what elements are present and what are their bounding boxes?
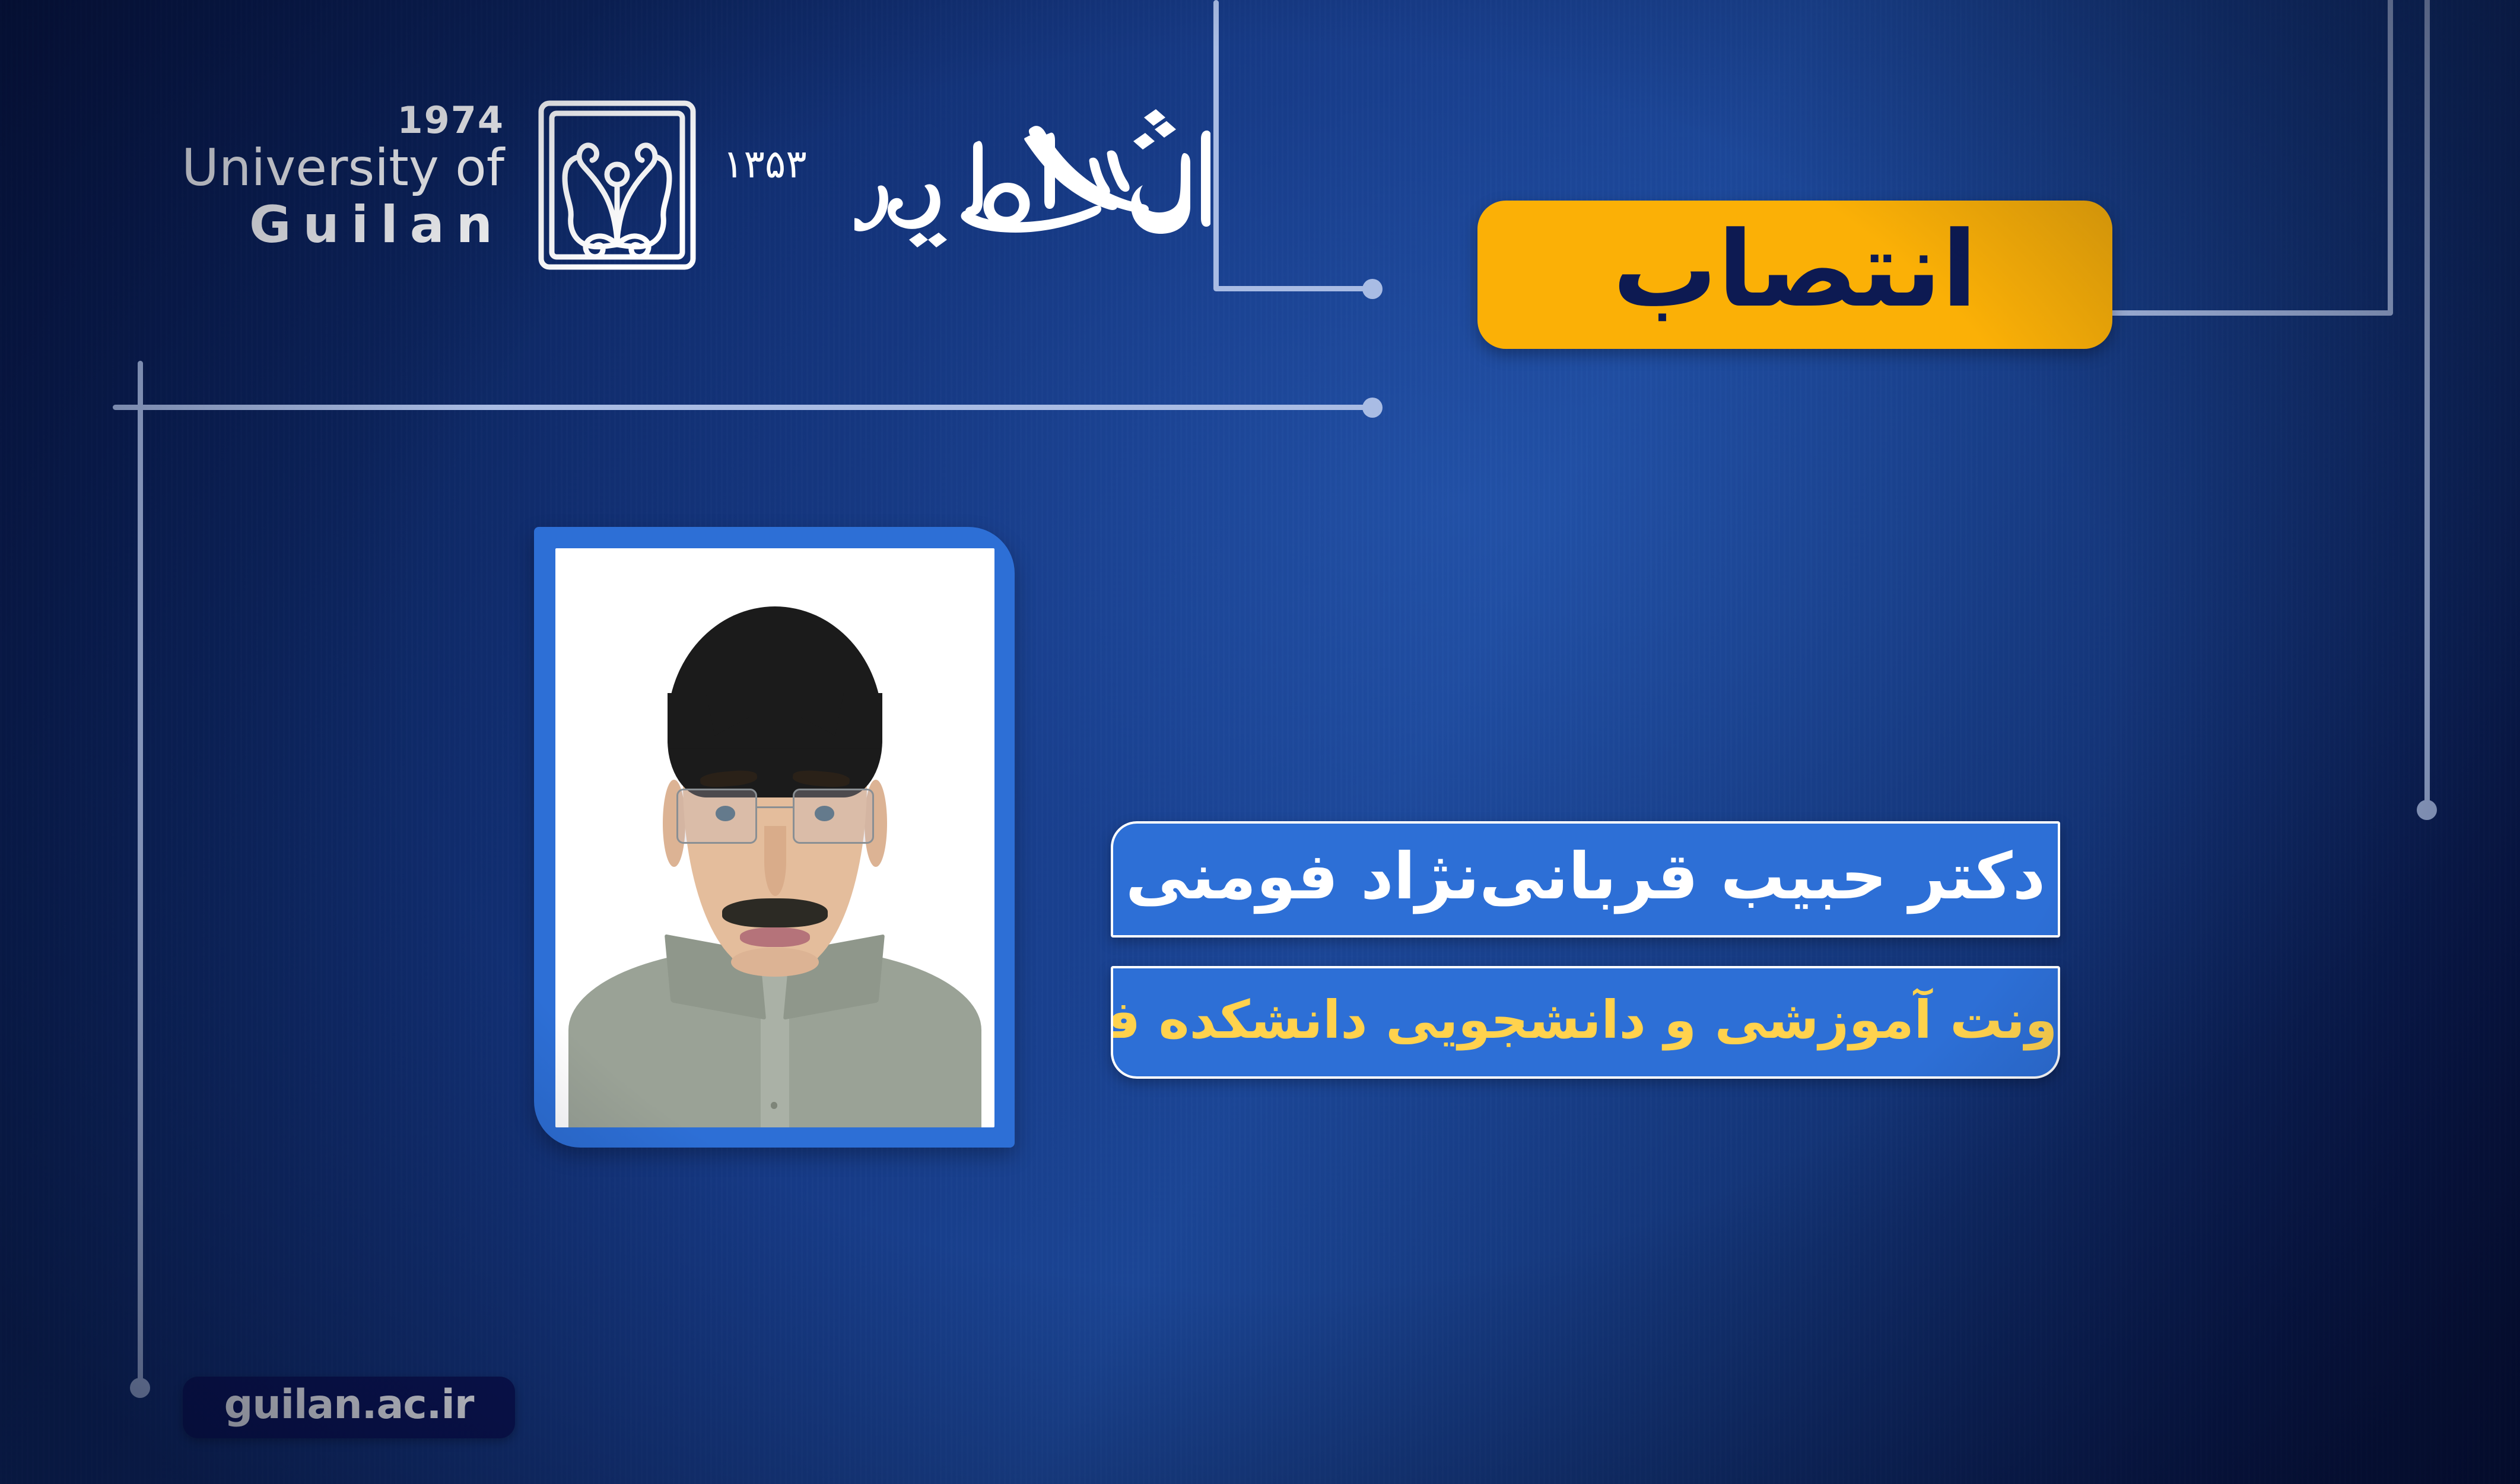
portrait-mustache — [722, 898, 828, 927]
upper-long-horizontal-line — [113, 405, 1374, 410]
guilan-label: Guilan — [172, 197, 504, 253]
person-role-banner: معاونت آموزشی و دانشجویی دانشکده فنی — [1111, 966, 2060, 1079]
top-center-horizontal-line — [1213, 286, 1374, 291]
university-of-label: University of — [172, 142, 504, 195]
glasses-lens-left — [676, 789, 758, 844]
portrait-photo-frame — [534, 527, 1015, 1148]
founding-year-english: 1974 — [172, 102, 504, 139]
portrait-photo — [555, 548, 994, 1127]
right-corner-horizontal-line — [2100, 310, 2392, 316]
portrait-chin — [731, 948, 819, 977]
dot-upper-row — [1362, 398, 1383, 418]
appointment-headline-text: انتصاب — [1613, 218, 1978, 322]
university-logo-english: 1974 University of Guilan — [172, 102, 504, 253]
glasses-lens-right — [793, 789, 874, 844]
appointment-headline-badge: انتصاب — [1477, 201, 2112, 349]
website-url-pill[interactable]: guilan.ac.ir — [183, 1377, 515, 1438]
founding-year-persian: ۱۳۵۳ — [723, 141, 807, 187]
right-outer-vertical-line — [2424, 0, 2430, 810]
top-center-vertical-line — [1213, 0, 1219, 291]
right-inner-vertical-line — [2388, 0, 2393, 316]
guilan-university-emblem-icon — [528, 95, 706, 273]
dot-left-vertical-end — [130, 1378, 150, 1398]
dot-right-vertical-end — [2417, 800, 2437, 820]
left-tall-vertical-line — [138, 361, 143, 1387]
dot-top-center — [1362, 279, 1383, 299]
portrait-shirt-button — [771, 1102, 778, 1109]
portrait-nose — [764, 826, 786, 895]
university-name-persian-calligraphy — [854, 96, 1210, 274]
person-role-text: معاونت آموزشی و دانشجویی دانشکده فنی — [1111, 994, 2060, 1046]
glasses-bridge — [757, 806, 793, 808]
person-name-text: دکتر حبیب قربانی‌نژاد فومنی — [1126, 845, 2045, 909]
university-logo: 1974 University of Guilan — [172, 89, 1205, 279]
poster-canvas: 1974 University of Guilan — [0, 0, 2520, 1484]
website-url-text: guilan.ac.ir — [224, 1385, 474, 1425]
person-name-banner: دکتر حبیب قربانی‌نژاد فومنی — [1111, 821, 2060, 938]
portrait-mouth — [740, 927, 810, 947]
